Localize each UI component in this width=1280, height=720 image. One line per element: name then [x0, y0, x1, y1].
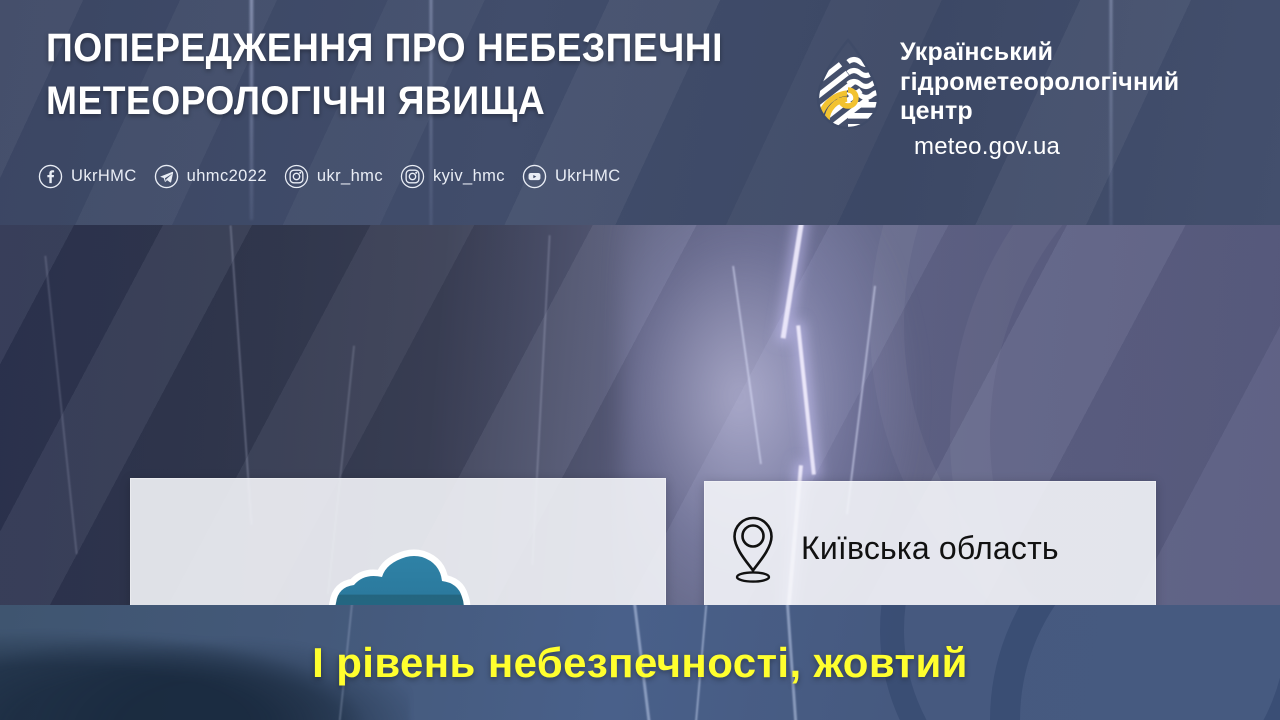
- page-title-line-2: МЕТЕОРОЛОГІЧНІ ЯВИЩА: [46, 75, 753, 128]
- droplet-logo-icon: [812, 38, 884, 132]
- instagram-icon: [400, 164, 425, 189]
- footer-banner: I рівень небезпечності, жовтий: [0, 605, 1280, 720]
- phenomenon-card[interactable]: Гроза: [130, 478, 666, 605]
- social-link-youtube[interactable]: UkrHMC: [522, 164, 621, 189]
- social-link-facebook[interactable]: UkrHMC: [38, 164, 137, 189]
- social-label-instagram-kyiv: kyiv_hmc: [433, 167, 505, 186]
- organization-website[interactable]: meteo.gov.ua: [914, 131, 1179, 162]
- social-link-telegram[interactable]: uhmc2022: [154, 164, 267, 189]
- main-storm-panel: Гроза Київська область: [0, 225, 1280, 605]
- region-card[interactable]: Київська область: [704, 481, 1156, 605]
- danger-level-text: I рівень небезпечності, жовтий: [0, 605, 1280, 720]
- page-title: ПОПЕРЕДЖЕННЯ ПРО НЕБЕЗПЕЧНІ МЕТЕОРОЛОГІЧ…: [46, 22, 753, 128]
- page-title-line-1: ПОПЕРЕДЖЕННЯ ПРО НЕБЕЗПЕЧНІ: [46, 22, 753, 75]
- social-link-instagram-kyiv[interactable]: kyiv_hmc: [400, 164, 505, 189]
- facebook-icon: [38, 164, 63, 189]
- youtube-icon: [522, 164, 547, 189]
- social-link-instagram-ukr[interactable]: ukr_hmc: [284, 164, 383, 189]
- map-pin-icon: [705, 513, 801, 585]
- organization-name-line-1: Український: [900, 38, 1179, 68]
- social-label-telegram: uhmc2022: [187, 167, 267, 186]
- instagram-icon: [284, 164, 309, 189]
- organization-name-line-3: центр: [900, 97, 1179, 127]
- social-label-instagram-ukr: ukr_hmc: [317, 167, 383, 186]
- region-label: Київська область: [801, 530, 1059, 567]
- lightning-branch: [44, 256, 77, 555]
- social-links: UkrHMC uhmc2022: [38, 164, 638, 189]
- warning-infographic: ПОПЕРЕДЖЕННЯ ПРО НЕБЕЗПЕЧНІ МЕТЕОРОЛОГІЧ…: [0, 0, 1280, 720]
- social-label-youtube: UkrHMC: [555, 167, 621, 186]
- organization-name-line-2: гідрометеорологічний: [900, 68, 1179, 98]
- header-banner: ПОПЕРЕДЖЕННЯ ПРО НЕБЕЗПЕЧНІ МЕТЕОРОЛОГІЧ…: [0, 0, 1280, 225]
- social-label-facebook: UkrHMC: [71, 167, 137, 186]
- telegram-icon: [154, 164, 179, 189]
- organization-name: Український гідрометеорологічний центр m…: [900, 38, 1179, 162]
- organization-logo: Український гідрометеорологічний центр m…: [812, 38, 1179, 162]
- thunderstorm-cloud-icon: [298, 505, 498, 605]
